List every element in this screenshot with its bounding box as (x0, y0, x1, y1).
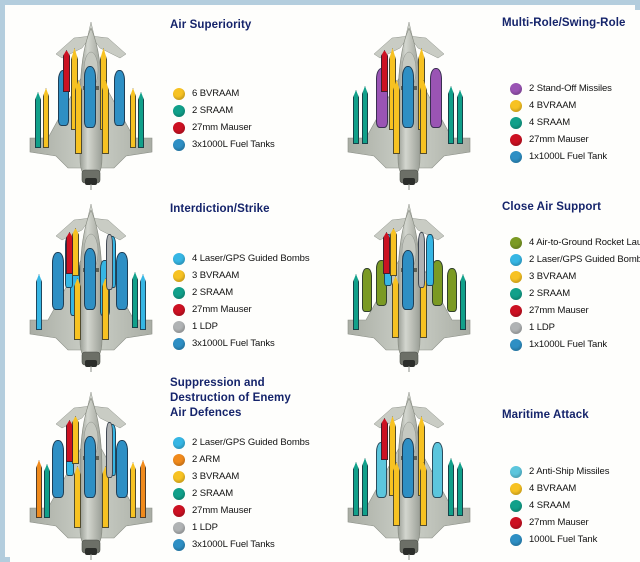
legend-item: 3 BVRAAM (510, 268, 640, 285)
legend-item: 4 SRAAM (510, 497, 609, 514)
legend-item: 4 BVRAAM (510, 480, 609, 497)
legend-label: 27mm Mauser (192, 122, 252, 133)
legend-item: 3x1000L Fuel Tanks (173, 136, 275, 153)
store-msl-9 (35, 92, 41, 148)
legend-label: 2 SRAAM (192, 488, 233, 499)
legend-label: 1x1000L Fuel Tank (529, 151, 607, 162)
aircraft-maritime-attack (340, 388, 478, 560)
legend-item: 4 SRAAM (510, 114, 612, 131)
legend-label: 27mm Mauser (529, 305, 589, 316)
legend-label: 3x1000L Fuel Tanks (192, 539, 275, 550)
store-tank-1 (84, 436, 96, 498)
store-tank-0 (402, 66, 414, 128)
store-tank-12 (106, 422, 113, 478)
legend-label: 1 LDP (529, 322, 555, 333)
legend-item: 1 LDP (173, 318, 309, 335)
store-msl-7 (390, 228, 397, 276)
store-msl-10 (457, 90, 463, 144)
legend-item: 6 BVRAAM (173, 85, 275, 102)
store-tank-0 (52, 252, 64, 310)
legend-item: 2 SRAAM (173, 102, 275, 119)
legend-label: 3x1000L Fuel Tanks (192, 139, 275, 150)
legend-item: 2 Laser/GPS Guided Bombs (173, 434, 309, 451)
store-msl-10 (130, 462, 136, 518)
legend-label: 27mm Mauser (529, 134, 589, 145)
legend-color-dot-icon (173, 437, 185, 449)
panel-title-maritime-attack: Maritime Attack (502, 408, 589, 423)
legend-color-dot-icon (173, 522, 185, 534)
diagram-canvas: Air Superiority6 BVRAAM2 SRAAM27mm Mause… (10, 10, 640, 562)
store-msl-5 (75, 80, 82, 154)
store-tank-0 (402, 438, 414, 498)
legend-label: 4 SRAAM (529, 117, 570, 128)
legend-item: 27mm Mauser (173, 502, 309, 519)
legend-color-dot-icon (510, 534, 522, 546)
legend-label: 2 SRAAM (192, 287, 233, 298)
legend-item: 2 SRAAM (173, 485, 309, 502)
legend-color-dot-icon (510, 483, 522, 495)
legend-label: 2 Stand-Off Missiles (529, 83, 612, 94)
legend-item: 2 ARM (173, 451, 309, 468)
legend-color-dot-icon (510, 254, 522, 266)
store-msl-11 (381, 418, 388, 460)
store-msl-7 (43, 88, 49, 148)
legend-label: 4 BVRAAM (529, 483, 576, 494)
store-msl-11 (140, 274, 146, 330)
legend-item: 27mm Mauser (173, 301, 309, 318)
store-bomb-6 (426, 234, 434, 286)
legend-maritime-attack: 2 Anti-Ship Missiles4 BVRAAM4 SRAAM27mm … (510, 463, 609, 548)
store-msl-6 (140, 460, 146, 518)
legend-item: 4 BVRAAM (510, 97, 612, 114)
store-tank-1 (84, 66, 96, 128)
legend-color-dot-icon (510, 151, 522, 163)
store-msl-10 (36, 274, 42, 330)
legend-color-dot-icon (510, 237, 522, 249)
legend-label: 1 LDP (192, 321, 218, 332)
store-tank-13 (106, 234, 113, 290)
legend-color-dot-icon (510, 117, 522, 129)
store-msl-9 (353, 462, 359, 516)
legend-label: 3 BVRAAM (529, 271, 576, 282)
store-msl-13 (383, 232, 390, 274)
legend-item: 3 BVRAAM (173, 267, 309, 284)
legend-label: 2 Laser/GPS Guided Bombs (192, 437, 309, 448)
store-msl-8 (130, 88, 136, 148)
legend-color-dot-icon (510, 83, 522, 95)
legend-label: 3x1000L Fuel Tanks (192, 338, 275, 349)
store-msl-8 (448, 86, 454, 144)
store-tank-2 (114, 70, 125, 126)
legend-label: 4 BVRAAM (529, 100, 576, 111)
legend-label: 27mm Mauser (192, 304, 252, 315)
legend-label: 3 BVRAAM (192, 270, 239, 281)
store-msl-7 (72, 416, 79, 464)
store-msl-8 (448, 458, 454, 516)
store-msl-5 (36, 460, 42, 518)
aircraft-close-air-support (340, 200, 478, 372)
legend-air-superiority: 6 BVRAAM2 SRAAM27mm Mauser3x1000L Fuel T… (173, 85, 275, 153)
store-msl-7 (362, 458, 368, 516)
aircraft-interdiction-strike (22, 200, 160, 372)
legend-item: 2 Stand-Off Missiles (510, 80, 612, 97)
store-msl-10 (353, 274, 359, 330)
aircraft-air-superiority (22, 18, 160, 190)
store-msl-10 (138, 92, 144, 148)
legend-sead: 2 Laser/GPS Guided Bombs2 ARM3 BVRAAM2 S… (173, 434, 309, 553)
panel-title-interdiction-strike: Interdiction/Strike (170, 202, 270, 217)
store-msl-11 (381, 50, 388, 92)
panel-title-close-air-support: Close Air Support (502, 200, 601, 215)
legend-color-dot-icon (173, 471, 185, 483)
store-msl-5 (393, 462, 400, 526)
store-msl-7 (362, 86, 368, 144)
legend-label: 1x1000L Fuel Tank (529, 339, 607, 350)
diagram-frame: Air Superiority6 BVRAAM2 SRAAM27mm Mause… (0, 0, 640, 562)
store-tank-2 (116, 440, 128, 498)
panel-title-sead: Suppression and Destruction of Enemy Air… (170, 376, 291, 421)
legend-color-dot-icon (173, 270, 185, 282)
aircraft-multi-role-swing-role (340, 18, 478, 190)
legend-color-dot-icon (173, 287, 185, 299)
legend-label: 4 Air-to-Ground Rocket Launcher (529, 237, 640, 248)
store-tank-2 (432, 442, 443, 498)
legend-color-dot-icon (173, 539, 185, 551)
legend-item: 3x1000L Fuel Tanks (173, 335, 309, 352)
store-msl-8 (74, 466, 81, 528)
legend-color-dot-icon (510, 500, 522, 512)
store-msl-7 (72, 228, 79, 276)
store-tank-4 (447, 268, 457, 312)
store-msl-11 (63, 50, 70, 92)
legend-color-dot-icon (173, 505, 185, 517)
store-msl-12 (132, 272, 138, 328)
legend-label: 3 BVRAAM (192, 471, 239, 482)
panel-title-multi-role-swing-role: Multi-Role/Swing-Role (502, 16, 625, 31)
legend-item: 4 Air-to-Ground Rocket Launcher (510, 234, 640, 251)
legend-item: 1x1000L Fuel Tank (510, 148, 612, 165)
store-msl-10 (457, 462, 463, 516)
legend-color-dot-icon (173, 253, 185, 265)
store-msl-11 (460, 274, 466, 330)
legend-color-dot-icon (510, 288, 522, 300)
store-tank-3 (362, 268, 372, 312)
legend-label: 1000L Fuel Tank (529, 534, 597, 545)
store-tank-2 (430, 68, 442, 128)
legend-interdiction-strike: 4 Laser/GPS Guided Bombs3 BVRAAM2 SRAAM2… (173, 250, 309, 352)
legend-item: 2 Laser/GPS Guided Bombs (510, 251, 640, 268)
store-tank-12 (418, 232, 425, 288)
legend-item: 1x1000L Fuel Tank (510, 336, 640, 353)
legend-close-air-support: 4 Air-to-Ground Rocket Launcher2 Laser/G… (510, 234, 640, 353)
legend-label: 4 SRAAM (529, 500, 570, 511)
store-msl-8 (392, 276, 399, 338)
legend-item: 1 LDP (173, 519, 309, 536)
aircraft-sead (22, 388, 160, 560)
store-msl-9 (353, 90, 359, 144)
legend-label: 1 LDP (192, 522, 218, 533)
legend-color-dot-icon (173, 304, 185, 316)
legend-item: 4 Laser/GPS Guided Bombs (173, 250, 309, 267)
legend-item: 27mm Mauser (510, 514, 609, 531)
panel-title-air-superiority: Air Superiority (170, 18, 251, 33)
legend-label: 2 SRAAM (192, 105, 233, 116)
legend-item: 27mm Mauser (510, 302, 640, 319)
legend-multi-role-swing-role: 2 Stand-Off Missiles4 BVRAAM4 SRAAM27mm … (510, 80, 612, 165)
legend-item: 1 LDP (510, 319, 640, 336)
legend-item: 3x1000L Fuel Tanks (173, 536, 309, 553)
store-msl-6 (420, 462, 427, 526)
legend-color-dot-icon (173, 122, 185, 134)
legend-item: 2 Anti-Ship Missiles (510, 463, 609, 480)
legend-label: 2 ARM (192, 454, 220, 465)
store-tank-2 (116, 252, 128, 310)
legend-label: 2 Anti-Ship Missiles (529, 466, 609, 477)
legend-label: 2 SRAAM (529, 288, 570, 299)
legend-color-dot-icon (510, 466, 522, 478)
legend-color-dot-icon (173, 454, 185, 466)
legend-label: 27mm Mauser (529, 517, 589, 528)
legend-item: 2 SRAAM (510, 285, 640, 302)
legend-color-dot-icon (510, 339, 522, 351)
legend-color-dot-icon (510, 271, 522, 283)
legend-color-dot-icon (173, 321, 185, 333)
legend-color-dot-icon (510, 100, 522, 112)
legend-color-dot-icon (510, 322, 522, 334)
store-tank-0 (52, 440, 64, 498)
legend-item: 3 BVRAAM (173, 468, 309, 485)
legend-color-dot-icon (510, 305, 522, 317)
legend-item: 2 SRAAM (173, 284, 309, 301)
legend-label: 2 Laser/GPS Guided Bombs (529, 254, 640, 265)
legend-color-dot-icon (173, 488, 185, 500)
legend-color-dot-icon (173, 338, 185, 350)
store-msl-8 (74, 278, 81, 340)
legend-label: 27mm Mauser (192, 505, 252, 516)
legend-color-dot-icon (173, 105, 185, 117)
store-msl-11 (44, 464, 50, 518)
legend-item: 1000L Fuel Tank (510, 531, 609, 548)
store-tank-0 (402, 250, 414, 310)
store-msl-5 (393, 80, 400, 154)
legend-color-dot-icon (510, 134, 522, 146)
store-msl-13 (66, 420, 73, 462)
legend-label: 6 BVRAAM (192, 88, 239, 99)
legend-item: 27mm Mauser (510, 131, 612, 148)
legend-color-dot-icon (510, 517, 522, 529)
store-msl-14 (66, 232, 73, 274)
store-tank-1 (84, 248, 96, 310)
store-msl-6 (102, 80, 109, 154)
store-msl-6 (420, 80, 427, 154)
legend-color-dot-icon (173, 139, 185, 151)
legend-label: 4 Laser/GPS Guided Bombs (192, 253, 309, 264)
legend-color-dot-icon (173, 88, 185, 100)
legend-item: 27mm Mauser (173, 119, 275, 136)
